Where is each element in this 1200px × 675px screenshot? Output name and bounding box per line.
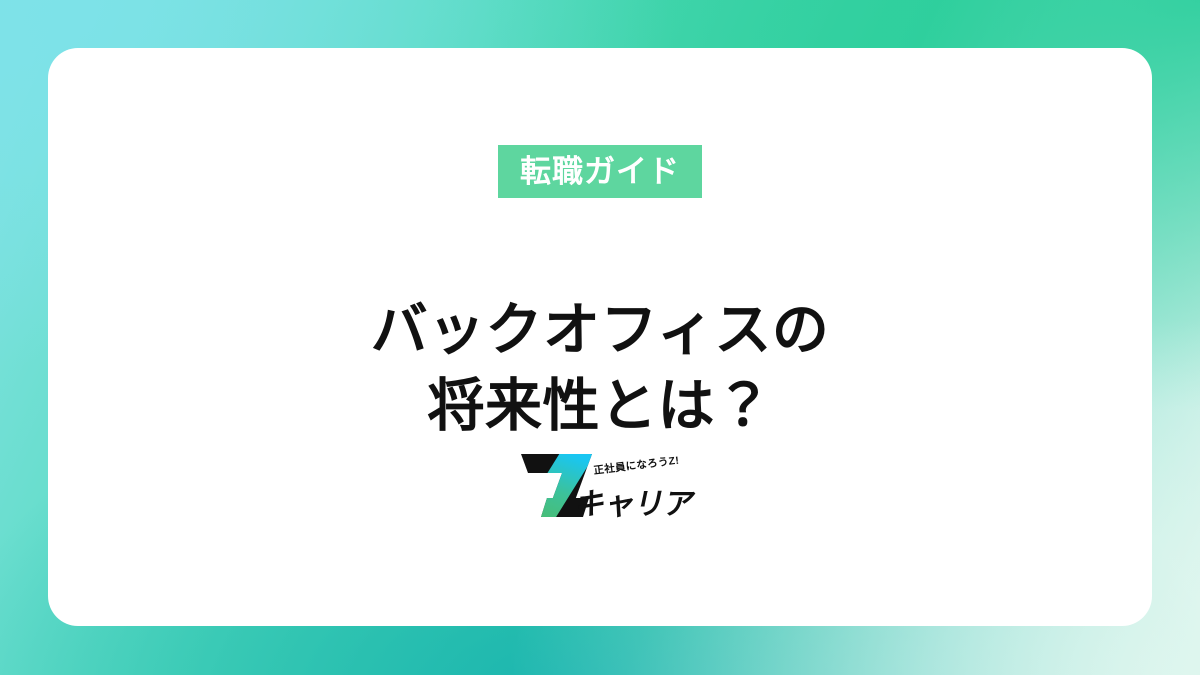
page-title: バックオフィスの 将来性とは？ bbox=[48, 292, 1152, 444]
page-title-line-1: バックオフィスの bbox=[48, 292, 1152, 368]
content-card: 転職ガイド バックオフィスの 将来性とは？ bbox=[48, 48, 1152, 626]
brand-logo: 正社員になろうZ! キャリア bbox=[500, 448, 700, 530]
page-title-line-2: 将来性とは？ bbox=[48, 368, 1152, 444]
logo-tagline: 正社員になろうZ! bbox=[593, 454, 680, 477]
brand-logo-svg: 正社員になろうZ! キャリア bbox=[500, 448, 700, 530]
category-badge: 転職ガイド bbox=[498, 145, 702, 198]
poster-background: 転職ガイド バックオフィスの 将来性とは？ bbox=[0, 0, 1200, 675]
logo-wordmark: キャリア bbox=[572, 488, 697, 521]
